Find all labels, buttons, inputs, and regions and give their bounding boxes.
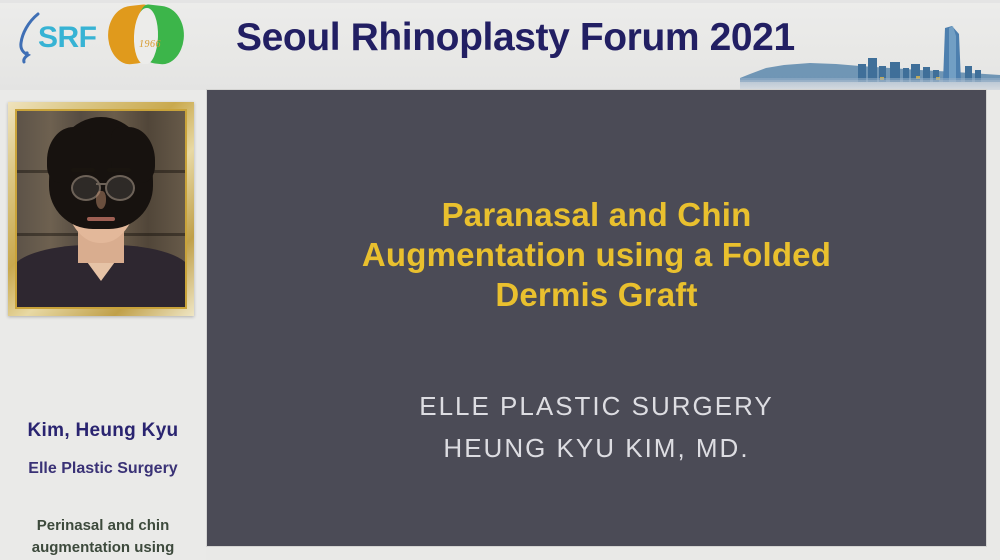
forum-header-banner: SRF 1966 Seoul Rhinoplasty Forum 2021 xyxy=(0,0,1000,90)
heart-logo-year: 1966 xyxy=(130,39,170,50)
presentation-viewer: SRF 1966 Seoul Rhinoplasty Forum 2021 xyxy=(0,0,1000,560)
slide-canvas[interactable]: Paranasal and Chin Augmentation using a … xyxy=(207,90,986,546)
speaker-portrait-frame xyxy=(8,102,194,316)
heart-logo-icon: 1966 xyxy=(108,6,188,68)
speaker-portrait-photo xyxy=(15,109,187,309)
speaker-topic: Perinasal and chin augmentation using De… xyxy=(8,515,198,560)
header-top-divider xyxy=(0,0,1000,3)
portrait-eyeglass-bridge xyxy=(96,183,106,185)
portrait-eyebrow-right xyxy=(107,168,131,172)
speaker-affiliation: Elle Plastic Surgery xyxy=(0,460,206,478)
portrait-eyebrow-left xyxy=(71,168,95,172)
slide-title-line: Augmentation using a Folded xyxy=(207,235,986,275)
slide-subtitle: ELLE PLASTIC SURGERY HEUNG KYU KIM, MD. xyxy=(207,385,986,469)
slide-title: Paranasal and Chin Augmentation using a … xyxy=(207,195,986,315)
slide-title-line: Paranasal and Chin xyxy=(207,195,986,235)
speaker-name: Kim, Heung Kyu xyxy=(0,420,206,442)
slide-title-line: Dermis Graft xyxy=(207,275,986,315)
slide-subtitle-line: ELLE PLASTIC SURGERY xyxy=(207,385,986,427)
portrait-nose xyxy=(96,191,106,209)
slide-subtitle-line: HEUNG KYU KIM, MD. xyxy=(207,427,986,469)
srf-logo: SRF xyxy=(12,10,107,68)
portrait-mouth xyxy=(87,217,115,221)
portrait-eyeglass-right xyxy=(105,175,135,201)
seoul-skyline-icon xyxy=(740,20,1000,90)
skyline-water-reflection xyxy=(740,78,1000,90)
speaker-info-panel: Kim, Heung Kyu Elle Plastic Surgery Peri… xyxy=(0,90,206,560)
srf-logo-text: SRF xyxy=(38,21,97,55)
